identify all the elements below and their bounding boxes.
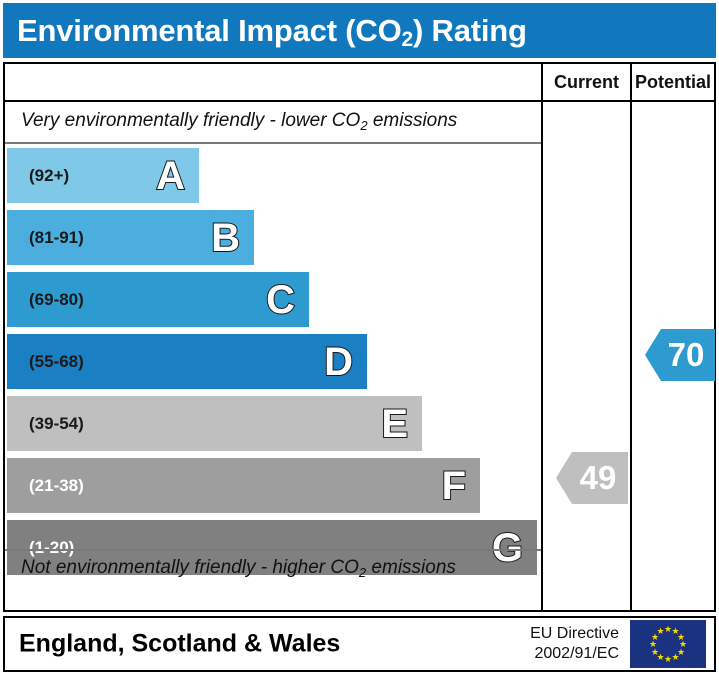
caption-bottom-rule bbox=[5, 549, 541, 551]
current-rating-marker: 49 bbox=[556, 452, 628, 504]
rating-band-d: (55-68)D bbox=[7, 334, 367, 389]
eu-flag-star: ★ bbox=[664, 655, 672, 663]
band-range-b: (81-91) bbox=[29, 228, 84, 248]
rating-band-a: (92+)A bbox=[7, 148, 199, 203]
band-range-a: (92+) bbox=[29, 166, 69, 186]
footer-directive-line2: 2002/91/EC bbox=[530, 644, 619, 664]
column-divider-current bbox=[541, 64, 543, 610]
band-letter-a: A bbox=[156, 156, 185, 196]
epc-environmental-impact-chart: Environmental Impact (CO2) Rating Curren… bbox=[0, 0, 719, 675]
column-divider-potential bbox=[630, 64, 632, 610]
caption-bottom-suffix: emissions bbox=[366, 557, 456, 578]
eu-flag-star: ★ bbox=[657, 627, 665, 635]
band-letter-c: C bbox=[266, 280, 295, 320]
footer-region-label: England, Scotland & Wales bbox=[19, 630, 340, 659]
rating-band-f: (21-38)F bbox=[7, 458, 480, 513]
footer-directive: EU Directive 2002/91/EC bbox=[530, 624, 619, 664]
page-title-prefix: Environmental Impact (CO bbox=[17, 13, 402, 48]
band-letter-d: D bbox=[324, 342, 353, 382]
band-letter-f: F bbox=[442, 466, 466, 506]
rating-band-e: (39-54)E bbox=[7, 396, 422, 451]
caption-bottom-subscript: 2 bbox=[359, 565, 366, 580]
footer-directive-line1: EU Directive bbox=[530, 624, 619, 644]
rating-band-c: (69-80)C bbox=[7, 272, 309, 327]
page-title-subscript: 2 bbox=[402, 28, 413, 51]
page-title: Environmental Impact (CO2) Rating bbox=[17, 13, 527, 49]
footer-bar: England, Scotland & Wales EU Directive 2… bbox=[3, 616, 716, 672]
band-range-c: (69-80) bbox=[29, 290, 84, 310]
rating-band-b: (81-91)B bbox=[7, 210, 254, 265]
potential-rating-value: 70 bbox=[656, 336, 705, 374]
column-header-current: Current bbox=[543, 64, 630, 100]
eu-flag-icon: ★★★★★★★★★★★★ bbox=[630, 620, 706, 668]
band-letter-b: B bbox=[211, 218, 240, 258]
ratings-table: Current Potential Very environmentally f… bbox=[3, 62, 716, 612]
band-letter-g: G bbox=[492, 528, 523, 568]
column-header-potential: Potential bbox=[632, 64, 714, 100]
chart-title-bar: Environmental Impact (CO2) Rating bbox=[3, 3, 716, 58]
page-title-suffix: ) Rating bbox=[413, 13, 527, 48]
eu-flag-star: ★ bbox=[672, 653, 680, 661]
band-range-e: (39-54) bbox=[29, 414, 84, 434]
band-range-f: (21-38) bbox=[29, 476, 84, 496]
band-range-d: (55-68) bbox=[29, 352, 84, 372]
caption-bottom-prefix: Not environmentally friendly - higher CO bbox=[21, 557, 359, 578]
band-range-g: (1-20) bbox=[29, 538, 74, 558]
current-rating-value: 49 bbox=[568, 459, 617, 497]
caption-bottom: Not environmentally friendly - higher CO… bbox=[21, 557, 456, 579]
rating-bands: (92+)A(81-91)B(69-80)C(55-68)D(39-54)E(2… bbox=[5, 64, 541, 610]
band-letter-e: E bbox=[381, 404, 408, 444]
potential-rating-marker: 70 bbox=[645, 329, 715, 381]
